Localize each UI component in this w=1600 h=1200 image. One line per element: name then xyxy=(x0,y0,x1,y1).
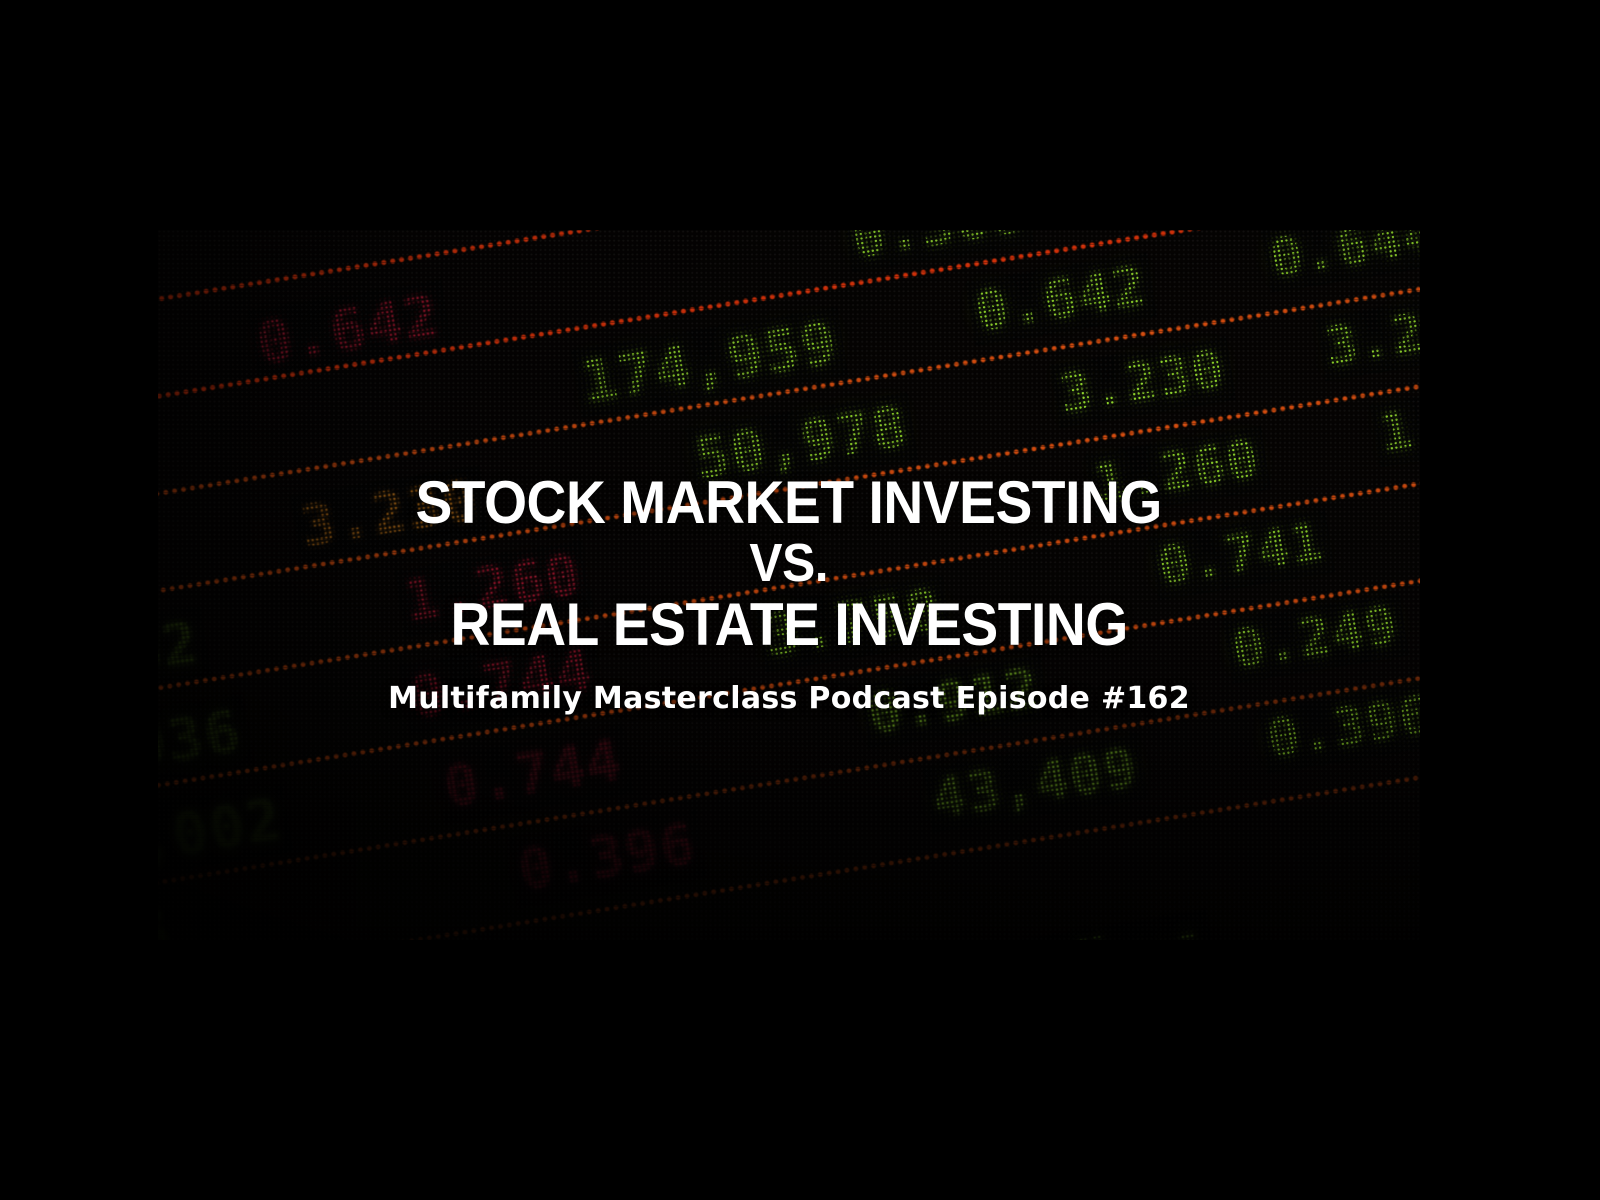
title-card: 7,909 53,216 0.981 0.398 0 0.370 0.988 0… xyxy=(0,0,1600,1200)
page-title-versus: VS. xyxy=(750,535,829,592)
title-overlay: STOCK MARKET INVESTING VS. REAL ESTATE I… xyxy=(158,230,1420,940)
page-title-line-1: STOCK MARKET INVESTING xyxy=(416,472,1162,533)
episode-subtitle: Multifamily Masterclass Podcast Episode … xyxy=(388,681,1190,716)
page-title-line-2: REAL ESTATE INVESTING xyxy=(450,594,1127,655)
